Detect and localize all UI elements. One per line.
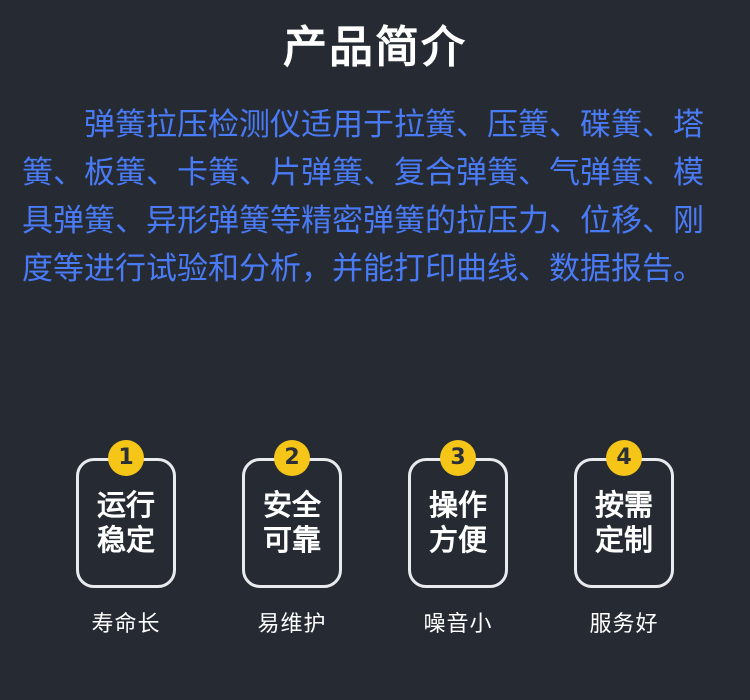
feature-card-line1: 操作 — [429, 488, 487, 523]
feature-item: 4 按需 定制 服务好 — [569, 440, 679, 638]
feature-card-line1: 按需 — [595, 488, 653, 523]
feature-card-line1: 安全 — [263, 488, 321, 523]
page-title: 产品简介 — [0, 0, 750, 75]
feature-caption: 易维护 — [257, 606, 326, 638]
feature-badge-number: 2 — [274, 440, 310, 476]
feature-card: 按需 定制 — [574, 458, 674, 588]
feature-caption: 噪音小 — [423, 606, 492, 638]
feature-badge-number: 1 — [108, 440, 144, 476]
feature-badge-number: 4 — [606, 440, 642, 476]
feature-item: 1 运行 稳定 寿命长 — [71, 440, 181, 638]
feature-card-line2: 方便 — [429, 523, 487, 558]
feature-card: 安全 可靠 — [242, 458, 342, 588]
product-intro-page: 产品简介 弹簧拉压检测仪适用于拉簧、压簧、碟簧、塔簧、板簧、卡簧、片弹簧、复合弹… — [0, 0, 750, 700]
feature-card: 操作 方便 — [408, 458, 508, 588]
feature-list: 1 运行 稳定 寿命长 2 安全 可靠 易维护 3 操作 方便 噪音小 4 — [0, 440, 750, 638]
feature-caption: 寿命长 — [91, 606, 160, 638]
feature-card-line2: 可靠 — [263, 523, 321, 558]
feature-card: 运行 稳定 — [76, 458, 176, 588]
feature-item: 2 安全 可靠 易维护 — [237, 440, 347, 638]
feature-card-line2: 稳定 — [97, 523, 155, 558]
feature-item: 3 操作 方便 噪音小 — [403, 440, 513, 638]
feature-caption: 服务好 — [589, 606, 658, 638]
feature-card-line1: 运行 — [97, 488, 155, 523]
feature-card-line2: 定制 — [595, 523, 653, 558]
intro-paragraph: 弹簧拉压检测仪适用于拉簧、压簧、碟簧、塔簧、板簧、卡簧、片弹簧、复合弹簧、气弹簧… — [0, 75, 750, 293]
feature-badge-number: 3 — [440, 440, 476, 476]
